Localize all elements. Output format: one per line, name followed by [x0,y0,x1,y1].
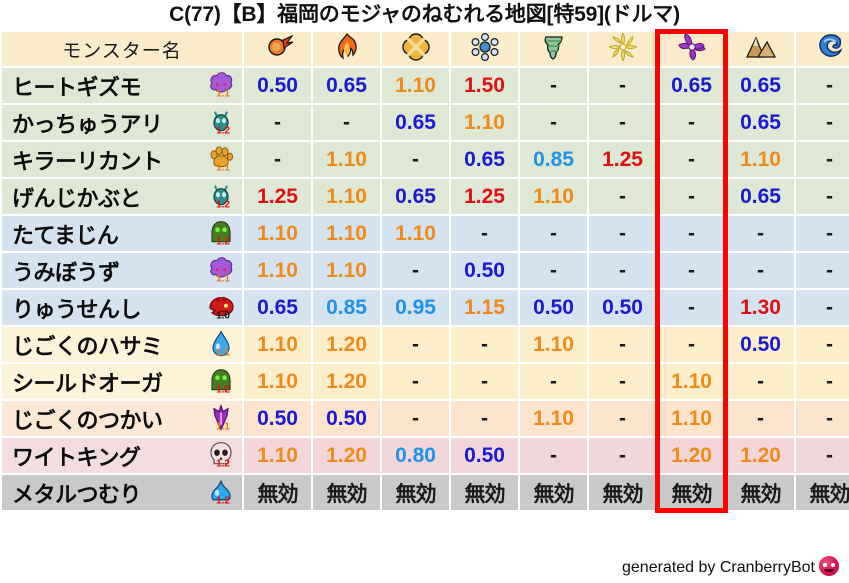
monster-name-label: メタルつむり [12,477,141,509]
monster-version-label: 1.2 [216,237,230,247]
effect-value-cell: - [727,364,794,399]
table-row: たてまじん1.21.101.101.10------ [2,216,849,251]
effect-value-cell: - [382,401,449,436]
blue-slime-icon: 1.2 [208,478,234,504]
table-row: うみぼうず1.11.101.10-0.50----- [2,253,849,288]
table-row: キラーリカント1.1-1.10-0.650.851.25-1.10- [2,142,849,177]
dorlua-water-wave-icon [816,43,844,66]
effect-value-cell: 0.50 [244,401,311,436]
header-attribute-dein-light-star-icon[interactable] [589,32,656,66]
purple-trident-icon: 1.1 [208,404,234,430]
effect-value-cell: 0.65 [727,105,794,140]
effect-value-cell: - [589,327,656,362]
effect-value-cell: - [589,216,656,251]
table-row: げんじかぶと1.21.251.100.651.251.10--0.65- [2,179,849,214]
effect-value-cell: 1.10 [451,105,518,140]
table-row: りゅうせんし1.00.650.850.951.150.500.50-1.30- [2,290,849,325]
effect-value-cell: - [589,105,656,140]
effect-value-cell: 1.10 [658,364,725,399]
header-attribute-ion-explosion-icon[interactable] [382,32,449,66]
monster-name-label: キラーリカント [12,144,163,176]
effect-value-cell: 1.10 [244,327,311,362]
monster-name-label: ワイトキング [12,440,140,472]
purple-gizmo-icon: 1.1 [208,256,234,282]
effect-value-cell: 1.10 [244,253,311,288]
monster-name-label: ヒートギズモ [12,70,141,102]
effect-value-cell: 無効 [313,475,380,510]
effect-value-cell: 1.20 [313,438,380,473]
monster-name-label: じごくのハサミ [12,329,163,361]
effect-value-cell: 1.10 [244,364,311,399]
monster-version-label: 1.1 [216,348,230,358]
effect-value-cell: 無効 [451,475,518,510]
effect-value-cell: 1.20 [727,438,794,473]
monster-version-label: 1.2 [216,459,230,469]
effect-value-cell: - [796,142,849,177]
effect-value-cell: 0.65 [658,68,725,103]
effect-value-cell: 1.20 [313,327,380,362]
monster-name-label: うみぼうず [12,255,120,287]
effect-value-cell: 1.10 [727,142,794,177]
effect-value-cell: 1.20 [313,364,380,399]
effect-value-cell: - [796,401,849,436]
monster-name-cell[interactable]: りゅうせんし1.0 [2,290,242,325]
effect-value-cell: 1.10 [244,438,311,473]
effect-value-cell: 1.10 [313,253,380,288]
effect-value-cell: 0.65 [244,290,311,325]
header-attribute-bagi-tornado-icon[interactable] [520,32,587,66]
gira-flame-icon [334,43,360,66]
table-body: モンスター名ヒートギズモ1.10.500.651.101.50--0.650.6… [2,32,849,510]
effect-value-cell: 0.50 [244,68,311,103]
header-attribute-meragiru-fire-ball-icon[interactable] [244,32,311,66]
beetle-icon: 1.2 [208,182,234,208]
bagi-tornado-icon [542,43,566,66]
effect-value-cell: 1.10 [313,216,380,251]
monster-version-label: 1.1 [216,274,230,284]
effect-value-cell: 0.65 [727,179,794,214]
effect-value-cell: 0.80 [382,438,449,473]
monster-version-label: 1.2 [216,385,230,395]
header-monster-name: モンスター名 [2,32,242,66]
jibaria-earth-mountain-icon [746,42,776,65]
effect-value-cell: 0.65 [382,179,449,214]
ion-explosion-icon [402,43,430,66]
effect-value-cell: 1.25 [244,179,311,214]
effect-value-cell: - [796,438,849,473]
effect-value-cell: - [589,364,656,399]
effect-value-cell: - [382,327,449,362]
effect-value-cell: - [796,364,849,399]
effect-value-cell: - [796,216,849,251]
cranberry-icon [819,556,839,576]
table-row: かっちゅうアリ1.2--0.651.10---0.65- [2,105,849,140]
effect-value-cell: 1.10 [382,216,449,251]
monster-name-cell[interactable]: ヒートギズモ1.1 [2,68,242,103]
effect-value-cell: 無効 [796,475,849,510]
meragiru-fire-ball-icon [263,42,293,65]
header-attribute-jibaria-earth-mountain-icon[interactable] [727,32,794,66]
effect-value-cell: 無効 [589,475,656,510]
header-attribute-doruma-dark-pinwheel-icon[interactable] [658,32,725,66]
monster-name-cell[interactable]: げんじかぶと1.2 [2,179,242,214]
effect-value-cell: 1.25 [589,142,656,177]
monster-name-label: じごくのつかい [12,403,163,435]
effect-value-cell: 1.10 [658,401,725,436]
effect-value-cell: - [451,401,518,436]
monster-name-cell[interactable]: メタルつむり1.2 [2,475,242,510]
effect-value-cell: - [658,327,725,362]
hyado-snowflake-icon [471,43,499,66]
effect-value-cell: 1.50 [451,68,518,103]
monster-name-cell[interactable]: じごくのつかい1.1 [2,401,242,436]
water-drop-icon: 1.1 [208,330,234,356]
table-row: シールドオーガ1.21.101.20----1.10-- [2,364,849,399]
monster-name-cell[interactable]: シールドオーガ1.2 [2,364,242,399]
effect-value-cell: - [520,216,587,251]
effect-value-cell: - [796,327,849,362]
monster-name-cell[interactable]: うみぼうず1.1 [2,253,242,288]
effect-value-cell: 1.30 [727,290,794,325]
effect-value-cell: 0.50 [313,401,380,436]
effect-value-cell: 0.50 [589,290,656,325]
effect-value-cell: 1.15 [451,290,518,325]
effect-value-cell: 無効 [520,475,587,510]
effect-value-cell: - [451,327,518,362]
monster-version-label: 1.1 [216,422,230,432]
effect-value-cell: - [727,253,794,288]
table-row: じごくのハサミ1.11.101.20--1.10--0.50- [2,327,849,362]
green-golem-icon: 1.2 [208,219,234,245]
footer-text: generated by CranberryBot [622,559,815,576]
table-row: メタルつむり1.2無効無効無効無効無効無効無効無効無効 [2,475,849,510]
effect-value-cell: - [796,105,849,140]
effect-value-cell: - [520,364,587,399]
effect-value-cell: 0.65 [313,68,380,103]
effect-value-cell: 1.10 [382,68,449,103]
purple-gizmo-icon: 1.1 [208,71,234,97]
effect-value-cell: 0.65 [382,105,449,140]
monster-name-cell[interactable]: じごくのハサミ1.1 [2,327,242,362]
effect-value-cell: 1.25 [451,179,518,214]
table-header-row: モンスター名 [2,32,849,66]
monster-version-label: 1.2 [216,496,230,506]
effect-value-cell: - [520,438,587,473]
effect-value-cell: - [520,105,587,140]
effect-value-cell: - [727,401,794,436]
effect-table-wrap: モンスター名ヒートギズモ1.10.500.651.101.50--0.650.6… [0,30,849,512]
effect-value-cell: 無効 [244,475,311,510]
monster-name-label: げんじかぶと [12,181,141,213]
monster-name-cell[interactable]: ワイトキング1.2 [2,438,242,473]
effect-value-cell: - [451,216,518,251]
effect-value-cell: 0.50 [451,438,518,473]
effect-value-cell: 無効 [382,475,449,510]
monster-version-label: 1.2 [216,200,230,210]
effect-value-cell: - [658,142,725,177]
effect-value-cell: 0.65 [451,142,518,177]
effect-value-cell: - [244,142,311,177]
monster-version-label: 1.1 [216,89,230,99]
page-title: C(77)【B】福岡のモジャのねむれる地図[特59](ドルマ) [0,0,849,30]
effect-value-cell: - [589,68,656,103]
monster-version-label: 1.0 [216,311,230,321]
effect-value-cell: 無効 [658,475,725,510]
effect-value-cell: 1.10 [313,142,380,177]
effect-value-cell: - [796,179,849,214]
effect-value-cell: - [589,253,656,288]
table-row: じごくのつかい1.10.500.50--1.10-1.10-- [2,401,849,436]
effect-value-cell: - [589,401,656,436]
monster-name-cell[interactable]: かっちゅうアリ1.2 [2,105,242,140]
effect-value-cell: - [658,290,725,325]
effect-value-cell: 0.65 [727,68,794,103]
effect-value-cell: - [589,438,656,473]
effect-value-cell: - [244,105,311,140]
effect-value-cell: - [796,253,849,288]
effect-value-cell: - [727,216,794,251]
monster-name-cell[interactable]: キラーリカント1.1 [2,142,242,177]
effect-value-cell: - [382,142,449,177]
paw-print-icon: 1.1 [208,145,234,171]
effect-value-cell: - [658,216,725,251]
effect-value-cell: - [520,253,587,288]
effect-value-cell: - [796,290,849,325]
doruma-dark-pinwheel-icon [678,43,706,66]
table-row: ヒートギズモ1.10.500.651.101.50--0.650.65- [2,68,849,103]
monster-name-label: シールドオーガ [12,366,163,398]
header-attribute-gira-flame-icon[interactable] [313,32,380,66]
effect-value-cell: - [382,253,449,288]
effect-value-cell: 0.50 [451,253,518,288]
effect-value-cell: 0.50 [520,290,587,325]
red-dragon-icon: 1.0 [208,293,234,319]
effect-value-cell: 1.10 [244,216,311,251]
ant-head-icon: 1.2 [208,108,234,134]
green-golem-icon: 1.2 [208,367,234,393]
effect-value-cell: - [658,253,725,288]
effect-value-cell: - [313,105,380,140]
effect-value-cell: 0.85 [520,142,587,177]
header-attribute-dorlua-water-wave-icon[interactable] [796,32,849,66]
effect-value-cell: 1.20 [658,438,725,473]
monster-name-label: たてまじん [12,218,118,250]
effect-value-cell: - [796,68,849,103]
monster-name-label: かっちゅうアリ [12,107,163,139]
effect-value-cell: - [589,179,656,214]
effect-value-cell: 1.10 [520,179,587,214]
monster-name-label: りゅうせんし [12,292,141,324]
table-row: ワイトキング1.21.101.200.800.50--1.201.20- [2,438,849,473]
effect-value-cell: 0.95 [382,290,449,325]
effect-value-cell: - [520,68,587,103]
skull-icon: 1.2 [208,441,234,467]
dein-light-star-icon [609,43,637,66]
monster-version-label: 1.1 [216,163,230,173]
effect-value-cell: 1.10 [520,327,587,362]
effect-value-cell: 0.50 [727,327,794,362]
effect-value-cell: - [658,179,725,214]
footer-credit: generated by CranberryBot [622,556,839,577]
monster-attribute-table: モンスター名ヒートギズモ1.10.500.651.101.50--0.650.6… [0,30,849,512]
effect-value-cell: 0.85 [313,290,380,325]
effect-value-cell: - [451,364,518,399]
effect-value-cell: 1.10 [313,179,380,214]
effect-value-cell: - [382,364,449,399]
effect-value-cell: 1.10 [520,401,587,436]
effect-value-cell: - [658,105,725,140]
monster-name-cell[interactable]: たてまじん1.2 [2,216,242,251]
monster-version-label: 1.2 [216,126,230,136]
effect-value-cell: 無効 [727,475,794,510]
header-attribute-hyado-snowflake-icon[interactable] [451,32,518,66]
